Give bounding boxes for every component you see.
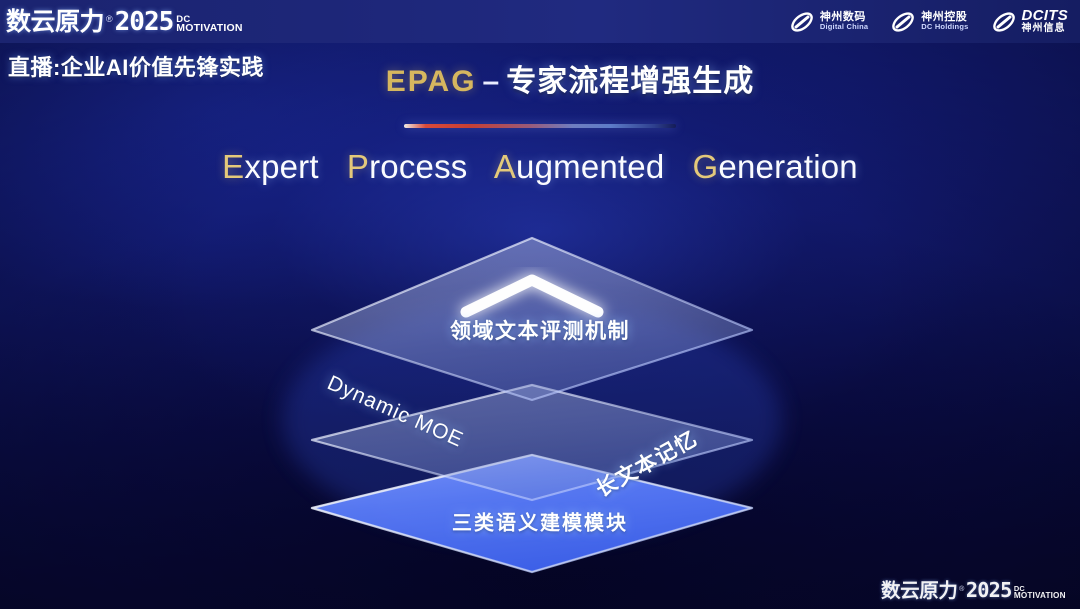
subtitle-rest-rocess: rocess [369, 148, 467, 185]
header-bar: 数云原力 ® 2025 DC MOTIVATION 神州数码 Digital C… [0, 0, 1080, 43]
swoosh-icon [890, 11, 916, 33]
swoosh-icon [991, 11, 1017, 33]
watermark-dcm: DC MOTIVATION [1014, 585, 1066, 601]
watermark-registered: ® [959, 585, 964, 593]
subtitle-cap-p: P [347, 148, 369, 185]
partner-logo-group: 神州数码 Digital China 神州控股 DC Holdings [789, 8, 1068, 34]
subtitle-rest-xpert: xpert [244, 148, 318, 185]
brand-logo-dcm: DC MOTIVATION [176, 15, 242, 35]
title-chinese: 专家流程增强生成 [506, 65, 754, 98]
partner-logo-dcits: DCITS 神州信息 [991, 8, 1069, 34]
subtitle-space-3 [674, 148, 683, 185]
partner-text-dcits: DCITS 神州信息 [1022, 8, 1069, 34]
brand-logo-motivation: MOTIVATION [176, 24, 242, 34]
partner-en-dc-holdings: DC Holdings [921, 23, 968, 31]
partner-cn-dcits: 神州信息 [1022, 24, 1069, 35]
watermark-logo: 数云原力 ® 2025 DC MOTIVATION [881, 581, 1066, 601]
subtitle-rest-ugmented: ugmented [516, 148, 664, 185]
subtitle-cap-a: A [494, 148, 516, 185]
watermark-motivation: MOTIVATION [1014, 592, 1066, 600]
brand-logo-cn: 数云原力 [6, 10, 104, 35]
watermark-year: 2025 [966, 581, 1012, 601]
partner-text-dc-holdings: 神州控股 DC Holdings [921, 12, 968, 31]
subtitle-cap-e: E [222, 148, 244, 185]
slide-canvas: 领域文本评测机制 Dynamic MOE 长文本记忆 三类语义建模模块 数云原力… [0, 0, 1080, 609]
footer-watermark: 数云原力 ® 2025 DC MOTIVATION [881, 581, 1066, 601]
partner-logo-dc-holdings: 神州控股 DC Holdings [890, 11, 968, 33]
subtitle-space-2 [477, 148, 486, 185]
swoosh-icon [789, 11, 815, 33]
subtitle-word-expert: Expert [222, 148, 319, 185]
subtitle-space-1 [328, 148, 337, 185]
title-acronym: EPAG [386, 65, 477, 98]
layer-label-top: 领域文本评测机制 [450, 315, 630, 345]
subtitle-word-generation: Generation [693, 148, 858, 185]
layer-label-bottom: 三类语义建模模块 [452, 507, 628, 536]
partner-text-digital-china: 神州数码 Digital China [820, 12, 868, 31]
subtitle-word-process: Process [347, 148, 468, 185]
brand-logo-year: 2025 [115, 9, 174, 35]
partner-logo-digital-china: 神州数码 Digital China [789, 11, 868, 33]
title-divider [404, 124, 676, 128]
live-stream-label: 直播:企业AI价值先锋实践 [8, 50, 264, 82]
page-subtitle: Expert Process Augmented Generation [0, 148, 1080, 186]
subtitle-rest-eneration: eneration [718, 148, 857, 185]
partner-en-dcits: DCITS [1022, 8, 1069, 24]
subtitle-word-augmented: Augmented [494, 148, 665, 185]
partner-en-digital-china: Digital China [820, 23, 868, 31]
watermark-cn: 数云原力 [881, 582, 957, 602]
subtitle-cap-g: G [693, 148, 719, 185]
brand-logo: 数云原力 ® 2025 DC MOTIVATION [6, 9, 243, 35]
brand-logo-registered: ® [106, 14, 113, 24]
title-dash: – [483, 65, 501, 98]
